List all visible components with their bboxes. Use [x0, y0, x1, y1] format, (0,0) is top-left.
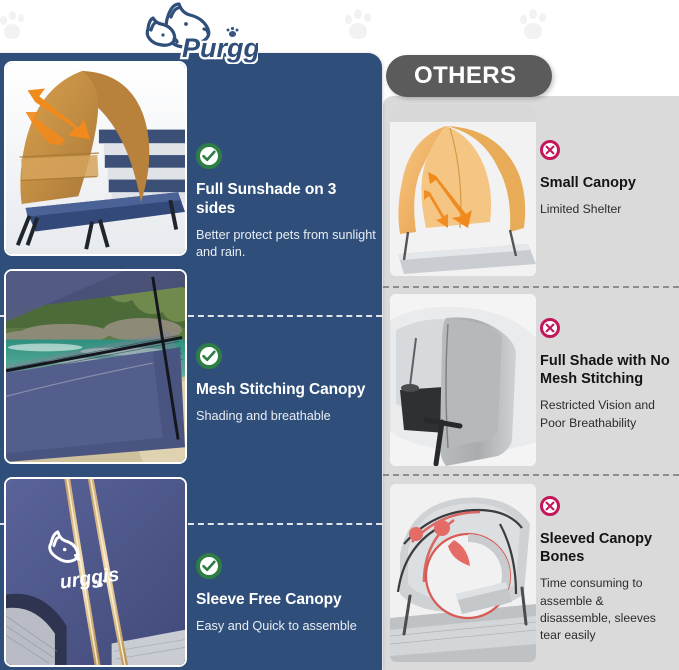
- others-divider-1: [383, 286, 679, 288]
- others-divider-2: [383, 474, 679, 476]
- header: Purggis: [0, 0, 679, 60]
- others-item-2: Full Shade with No Mesh Stitching Restri…: [540, 318, 674, 432]
- paw-print-icon: [345, 8, 373, 40]
- ours-feature-3: Sleeve Free Canopy Easy and Quick to ass…: [196, 553, 378, 635]
- x-circle-icon: [540, 496, 560, 516]
- x-circle-icon: [540, 318, 560, 338]
- brand-wordmark: Purggis: [182, 33, 258, 63]
- others-item-3-title: Sleeved Canopy Bones: [540, 530, 674, 566]
- ours-photo-3: urggis: [4, 477, 187, 667]
- ours-photo-2: [4, 269, 187, 464]
- others-item-1-title: Small Canopy: [540, 174, 674, 192]
- x-circle-icon: [540, 140, 560, 160]
- others-item-2-desc: Restricted Vision and Poor Breathability: [540, 397, 674, 432]
- others-item-1: Small Canopy Limited Shelter: [540, 140, 674, 218]
- check-circle-icon: [196, 343, 222, 369]
- others-photo-1: [390, 104, 536, 276]
- check-circle-icon: [196, 553, 222, 579]
- others-item-2-title: Full Shade with No Mesh Stitching: [540, 352, 674, 388]
- ours-feature-1-desc: Better protect pets from sunlight and ra…: [196, 227, 378, 262]
- others-panel: Small Canopy Limited Shelter: [383, 96, 679, 670]
- ours-photo-1: [4, 61, 187, 256]
- ours-feature-3-title: Sleeve Free Canopy: [196, 591, 378, 610]
- ours-feature-2-desc: Shading and breathable: [196, 408, 378, 426]
- others-item-3: Sleeved Canopy Bones Time consuming to a…: [540, 496, 674, 645]
- ours-feature-2-title: Mesh Stitching Canopy: [196, 381, 378, 400]
- others-photo-3: [390, 484, 536, 662]
- dog-and-cat-head-logo: Purggis: [108, 2, 258, 64]
- ours-feature-1-title: Full Sunshade on 3 sides: [196, 181, 378, 219]
- ours-panel: Full Sunshade on 3 sides Better protect …: [0, 53, 382, 670]
- paw-print-icon: [520, 8, 548, 40]
- others-item-1-desc: Limited Shelter: [540, 201, 674, 218]
- ours-feature-1: Full Sunshade on 3 sides Better protect …: [196, 143, 378, 262]
- brand-logo: Purggis: [108, 2, 258, 64]
- ours-feature-2: Mesh Stitching Canopy Shading and breath…: [196, 343, 378, 425]
- paw-print-icon: [0, 10, 26, 40]
- others-tab-label: OTHERS: [386, 62, 516, 90]
- ours-feature-3-desc: Easy and Quick to assemble: [196, 618, 378, 636]
- others-photo-2: [390, 294, 536, 466]
- comparison-infographic: Purggis: [0, 0, 679, 670]
- check-circle-icon: [196, 143, 222, 169]
- others-item-3-desc: Time consuming to assemble & disassemble…: [540, 575, 674, 644]
- others-tab: OTHERS: [386, 55, 552, 97]
